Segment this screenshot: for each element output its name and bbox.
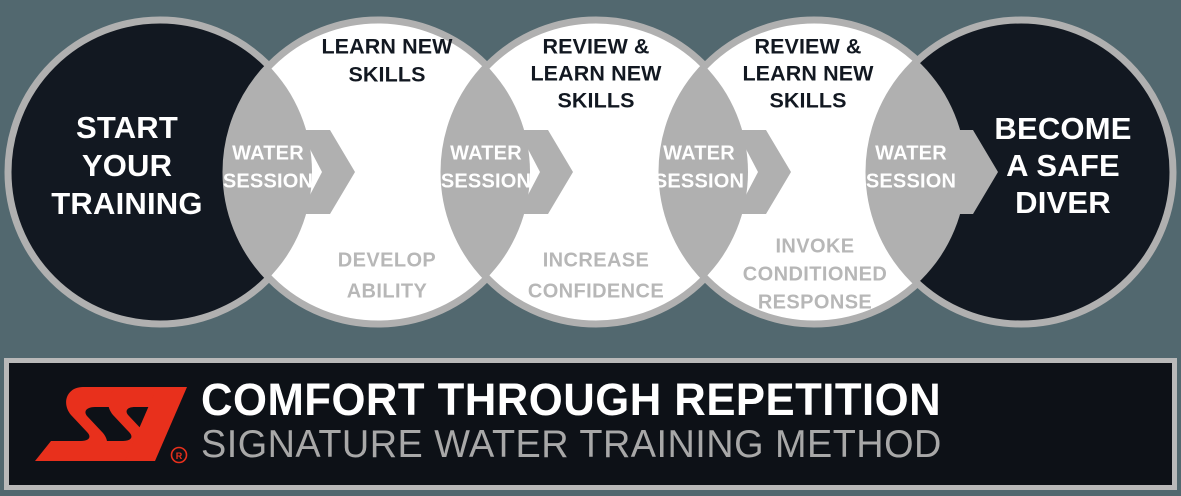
stage-3-bottom-line-3: RESPONSE <box>758 291 872 313</box>
stage-2-top-line-1: REVIEW & <box>542 35 649 59</box>
brand-banner: R COMFORT THROUGH REPETITION SIGNATURE W… <box>4 358 1177 490</box>
stage-3-bottom-line-1: INVOKE <box>775 235 854 257</box>
ssi-logo-icon: R <box>29 381 189 467</box>
infographic-canvas: START YOUR TRAINING LEARN NEW SKILLS DEV… <box>0 0 1181 496</box>
water-session-4-line-1: WATER <box>875 142 947 164</box>
stage-finish-line-1: BECOME <box>994 111 1131 146</box>
stage-2-bottom-line-1: INCREASE <box>543 249 650 271</box>
water-session-3-line-2: SESSION <box>654 170 744 192</box>
stage-3-top-line-1: REVIEW & <box>754 35 861 59</box>
banner-text-block: COMFORT THROUGH REPETITION SIGNATURE WAT… <box>201 378 965 469</box>
stage-2-bottom-line-2: CONFIDENCE <box>528 280 664 302</box>
stage-1-top-line-2: SKILLS <box>348 63 425 87</box>
banner-headline: COMFORT THROUGH REPETITION <box>201 378 942 422</box>
stage-3-top-line-3: SKILLS <box>769 89 846 113</box>
stage-start-line-2: YOUR <box>82 148 172 183</box>
stage-3-bottom-line-2: CONDITIONED <box>743 263 887 285</box>
stage-1-bottom-line-2: ABILITY <box>347 280 428 302</box>
stage-1-bottom-line-1: DEVELOP <box>338 249 436 271</box>
svg-text:R: R <box>176 451 183 461</box>
water-session-1-line-2: SESSION <box>223 170 313 192</box>
registered-trademark-icon: R <box>172 448 187 463</box>
water-session-3-line-1: WATER <box>663 142 735 164</box>
stage-start-line-3: TRAINING <box>51 186 202 221</box>
stage-1-top-line-1: LEARN NEW <box>321 35 453 59</box>
stage-start-line-1: START <box>76 110 178 145</box>
training-cycle-diagram: START YOUR TRAINING LEARN NEW SKILLS DEV… <box>0 0 1181 358</box>
stage-3-top-line-2: LEARN NEW <box>742 62 874 86</box>
stage-2-top-line-2: LEARN NEW <box>530 62 662 86</box>
water-session-4-line-2: SESSION <box>866 170 956 192</box>
stage-finish-line-3: DIVER <box>1015 185 1111 220</box>
ssi-logo-wrap: R <box>9 381 201 467</box>
stage-finish-line-2: A SAFE <box>1006 148 1120 183</box>
water-session-2-line-1: WATER <box>450 142 522 164</box>
banner-subline: SIGNATURE WATER TRAINING METHOD <box>201 425 942 466</box>
stage-2-top-line-3: SKILLS <box>557 89 634 113</box>
water-session-1-line-1: WATER <box>232 142 304 164</box>
water-session-2-line-2: SESSION <box>441 170 531 192</box>
